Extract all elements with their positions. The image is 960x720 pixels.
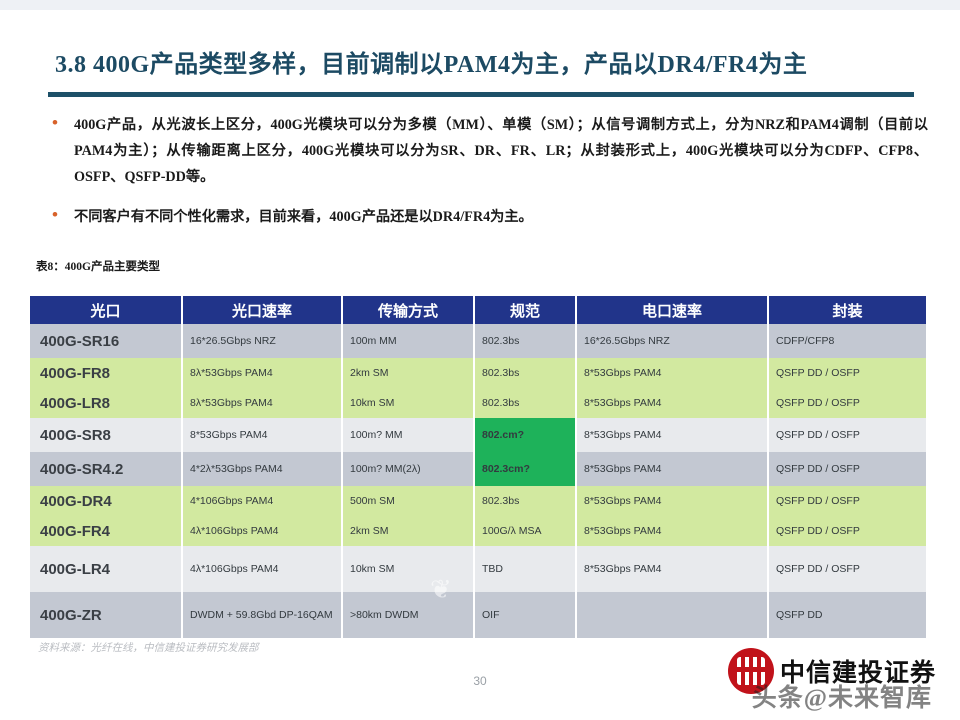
column-header-optical-rate: 光口速率 (182, 296, 342, 324)
table-cell: 16*26.5Gbps NRZ (576, 324, 768, 358)
table-row: 400G-SR1616*26.5Gbps NRZ100m MM802.3bs16… (30, 324, 926, 358)
table-cell: 8λ*53Gbps PAM4 (182, 388, 342, 418)
table-cell: 400G-DR4 (30, 486, 182, 516)
table-cell: 802.3bs (474, 358, 576, 388)
company-logo: 中信建投证券 (728, 648, 936, 694)
table-cell (576, 592, 768, 638)
table-cell: 400G-SR16 (30, 324, 182, 358)
table-cell: 8λ*53Gbps PAM4 (182, 358, 342, 388)
list-item: • 400G产品，从光波长上区分，400G光模块可以分为多模（MM）、单模（SM… (48, 112, 928, 190)
table-cell: 400G-FR4 (30, 516, 182, 546)
table-cell: 4λ*106Gbps PAM4 (182, 546, 342, 592)
table-cell: 400G-LR8 (30, 388, 182, 418)
table-cell: QSFP DD / OSFP (768, 546, 926, 592)
table: 光口 光口速率 传输方式 规范 电口速率 封装 400G-SR1616*26.5… (30, 296, 926, 638)
logo-text: 中信建投证券 (780, 653, 936, 689)
table-cell: QSFP DD / OSFP (768, 388, 926, 418)
table-cell: >80km DWDM (342, 592, 474, 638)
table-cell: 2km SM (342, 516, 474, 546)
slide-canvas: 3.8 400G产品类型多样，目前调制以PAM4为主，产品以DR4/FR4为主 … (0, 0, 960, 720)
table-cell: 400G-SR4.2 (30, 452, 182, 486)
product-type-table: 光口 光口速率 传输方式 规范 电口速率 封装 400G-SR1616*26.5… (30, 296, 926, 638)
table-caption: 表8：400G产品主要类型 (36, 258, 160, 274)
table-cell: OIF (474, 592, 576, 638)
table-cell: 400G-SR8 (30, 418, 182, 452)
table-cell: 400G-LR4 (30, 546, 182, 592)
table-cell: 8*53Gbps PAM4 (576, 388, 768, 418)
page-title: 3.8 400G产品类型多样，目前调制以PAM4为主，产品以DR4/FR4为主 (55, 44, 807, 79)
table-cell: 802.3bs (474, 324, 576, 358)
table-cell: QSFP DD / OSFP (768, 452, 926, 486)
table-row: 400G-LR44λ*106Gbps PAM410km SMTBD8*53Gbp… (30, 546, 926, 592)
table-cell: 8*53Gbps PAM4 (576, 546, 768, 592)
table-cell: 8*53Gbps PAM4 (576, 358, 768, 388)
bullet-text: 不同客户有不同个性化需求，目前来看，400G产品还是以DR4/FR4为主。 (74, 204, 928, 230)
top-band (0, 0, 960, 10)
column-header-electrical-rate: 电口速率 (576, 296, 768, 324)
table-row: 400G-FR88λ*53Gbps PAM42km SM802.3bs8*53G… (30, 358, 926, 388)
table-cell: 2km SM (342, 358, 474, 388)
csc-emblem-icon (728, 648, 774, 694)
table-cell: 10km SM (342, 546, 474, 592)
table-cell: 8*53Gbps PAM4 (576, 418, 768, 452)
table-cell: 4λ*106Gbps PAM4 (182, 516, 342, 546)
table-cell: QSFP DD / OSFP (768, 358, 926, 388)
table-cell: 8*53Gbps PAM4 (576, 486, 768, 516)
table-row: 400G-LR88λ*53Gbps PAM410km SM802.3bs8*53… (30, 388, 926, 418)
table-cell: 10km SM (342, 388, 474, 418)
table-cell: 100m? MM(2λ) (342, 452, 474, 486)
table-cell: 100G/λ MSA (474, 516, 576, 546)
table-cell: 500m SM (342, 486, 474, 516)
table-cell: 802.3bs (474, 388, 576, 418)
column-header-package: 封装 (768, 296, 926, 324)
table-cell: QSFP DD / OSFP (768, 516, 926, 546)
table-cell: 802.3bs (474, 486, 576, 516)
table-cell: 400G-FR8 (30, 358, 182, 388)
title-divider (48, 92, 914, 97)
table-cell: 400G-ZR (30, 592, 182, 638)
bullet-text: 400G产品，从光波长上区分，400G光模块可以分为多模（MM）、单模（SM）；… (74, 112, 928, 190)
table-cell: 4*2λ*53Gbps PAM4 (182, 452, 342, 486)
table-body: 400G-SR1616*26.5Gbps NRZ100m MM802.3bs16… (30, 324, 926, 638)
bullet-marker-icon: • (48, 204, 74, 226)
table-row: 400G-ZRDWDM + 59.8Gbd DP-16QAM>80km DWDM… (30, 592, 926, 638)
column-header-optical-port: 光口 (30, 296, 182, 324)
table-cell: TBD (474, 546, 576, 592)
table-cell: 4*106Gbps PAM4 (182, 486, 342, 516)
table-cell: DWDM + 59.8Gbd DP-16QAM (182, 592, 342, 638)
table-cell: CDFP/CFP8 (768, 324, 926, 358)
table-cell: 802.cm? (474, 418, 576, 452)
table-cell: 802.3cm? (474, 452, 576, 486)
table-cell: 8*53Gbps PAM4 (182, 418, 342, 452)
source-note: 资料来源：光纤在线，中信建投证券研究发展部 (38, 640, 259, 655)
table-header-row: 光口 光口速率 传输方式 规范 电口速率 封装 (30, 296, 926, 324)
table-row: 400G-SR88*53Gbps PAM4100m? MM802.cm?8*53… (30, 418, 926, 452)
table-cell: QSFP DD / OSFP (768, 418, 926, 452)
table-row: 400G-SR4.24*2λ*53Gbps PAM4100m? MM(2λ)80… (30, 452, 926, 486)
table-cell: QSFP DD (768, 592, 926, 638)
column-header-transmission: 传输方式 (342, 296, 474, 324)
list-item: • 不同客户有不同个性化需求，目前来看，400G产品还是以DR4/FR4为主。 (48, 204, 928, 230)
table-cell: 100m? MM (342, 418, 474, 452)
table-cell: 8*53Gbps PAM4 (576, 516, 768, 546)
table-cell: 100m MM (342, 324, 474, 358)
column-header-standard: 规范 (474, 296, 576, 324)
table-cell: 16*26.5Gbps NRZ (182, 324, 342, 358)
bullet-list: • 400G产品，从光波长上区分，400G光模块可以分为多模（MM）、单模（SM… (48, 112, 928, 244)
table-row: 400G-DR44*106Gbps PAM4500m SM802.3bs8*53… (30, 486, 926, 516)
bullet-marker-icon: • (48, 112, 74, 134)
table-cell: QSFP DD / OSFP (768, 486, 926, 516)
table-row: 400G-FR44λ*106Gbps PAM42km SM100G/λ MSA8… (30, 516, 926, 546)
table-cell: 8*53Gbps PAM4 (576, 452, 768, 486)
